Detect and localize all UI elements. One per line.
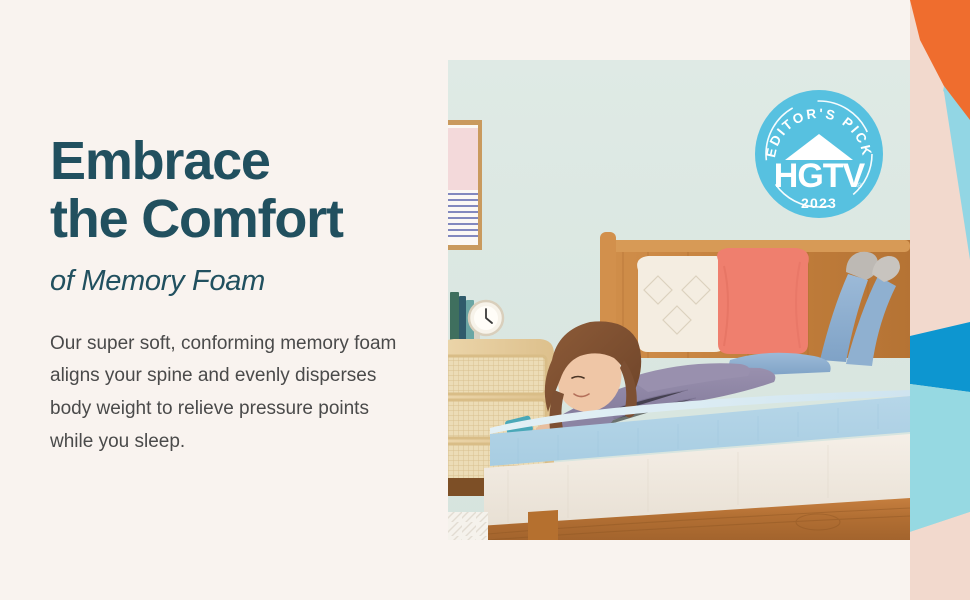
decor-cyan	[910, 384, 970, 532]
text-column: Embrace the Comfort of Memory Foam Our s…	[50, 132, 440, 458]
alarm-clock	[469, 301, 503, 335]
promo-banner: Embrace the Comfort of Memory Foam Our s…	[0, 0, 970, 600]
subheadline: of Memory Foam	[50, 265, 440, 298]
wall-art	[448, 120, 482, 250]
badge-year: 2023	[801, 195, 837, 211]
registered-mark-icon: ®	[857, 182, 863, 190]
badge-brand: HGTV	[774, 157, 866, 195]
decorative-color-panel	[910, 0, 970, 600]
body-copy: Our super soft, conforming memory foam a…	[50, 328, 400, 459]
hgtv-editors-pick-badge: EDITOR'S PICK HGTV ® 2023	[753, 88, 885, 220]
pillows	[637, 248, 809, 354]
page-title: Embrace the Comfort	[50, 132, 440, 249]
